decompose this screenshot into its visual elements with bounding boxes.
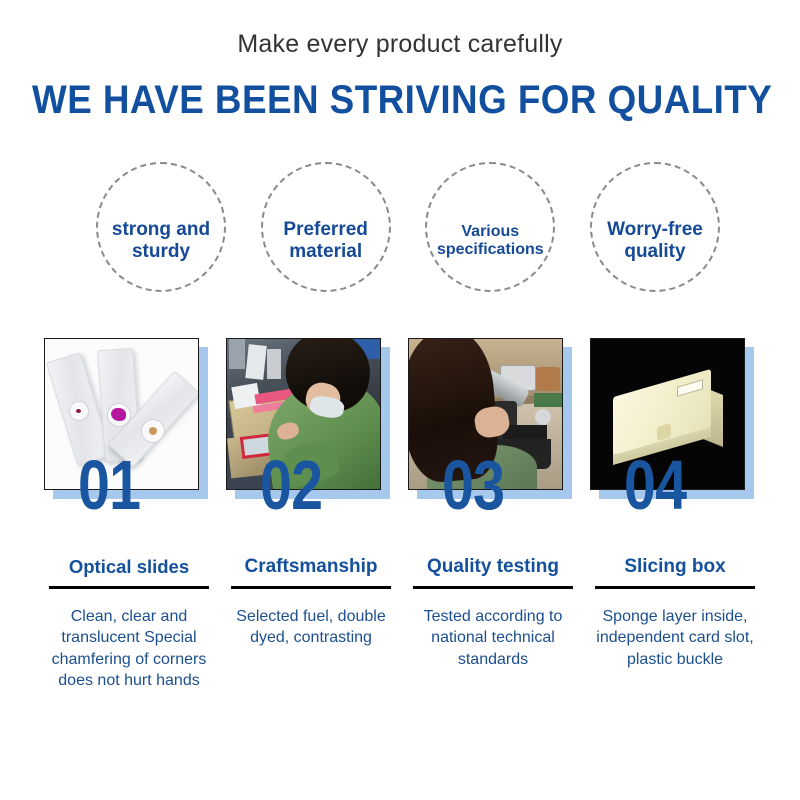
rack-shape: [229, 339, 245, 369]
feature-card-quality-testing: 03 Quality testing Tested according to n…: [408, 338, 578, 778]
badge-preferred-material: Preferred material: [261, 162, 391, 292]
card-description: Clean, clear and translucent Special cha…: [40, 606, 218, 691]
product-feature-cards: 01 Optical slides Clean, clear and trans…: [44, 338, 760, 778]
card-title: Optical slides: [44, 556, 214, 578]
object-shape: [534, 393, 562, 407]
specimen-shape: [111, 408, 126, 421]
badge-label: strong and sturdy: [112, 219, 210, 263]
feature-card-craftsmanship: 02 Craftsmanship Selected fuel, double d…: [226, 338, 396, 778]
tool-shape: [267, 349, 281, 379]
card-title: Quality testing: [408, 556, 578, 578]
title-rule: [49, 586, 209, 589]
tool-shape: [245, 344, 266, 380]
jar-shape: [536, 367, 560, 391]
title-rule: [413, 586, 573, 589]
badge-worry-free-quality: Worry-free quality: [590, 162, 720, 292]
specimen-shape: [76, 409, 81, 413]
badge-various-specifications: Various specifications: [425, 162, 555, 292]
card-number: 03: [442, 450, 504, 520]
specimen-shape: [149, 427, 157, 435]
card-number: 01: [78, 450, 140, 520]
badge-label: Various specifications: [437, 223, 544, 260]
badge-label: Worry-free quality: [607, 219, 703, 263]
badge-strong-and-sturdy: strong and sturdy: [96, 162, 226, 292]
feature-badges: strong and sturdy Preferred material Var…: [96, 162, 720, 294]
card-description: Tested according to national technical s…: [404, 606, 582, 670]
card-number: 02: [260, 450, 322, 520]
tagline: Make every product carefully: [0, 30, 800, 59]
feature-card-optical-slides: 01 Optical slides Clean, clear and trans…: [44, 338, 214, 778]
card-title: Craftsmanship: [226, 556, 396, 578]
card-description: Sponge layer inside, independent card sl…: [586, 606, 764, 670]
title-rule: [595, 586, 755, 589]
card-description: Selected fuel, double dyed, contrasting: [222, 606, 400, 649]
page-title: WE HAVE BEEN STRIVING FOR QUALITY: [32, 78, 768, 123]
card-title: Slicing box: [590, 556, 760, 578]
badge-label: Preferred material: [283, 219, 368, 263]
feature-card-slicing-box: 04 Slicing box Sponge layer inside, inde…: [590, 338, 760, 778]
card-number: 04: [624, 450, 686, 520]
microscope-knob-shape: [535, 409, 551, 425]
title-rule: [231, 586, 391, 589]
